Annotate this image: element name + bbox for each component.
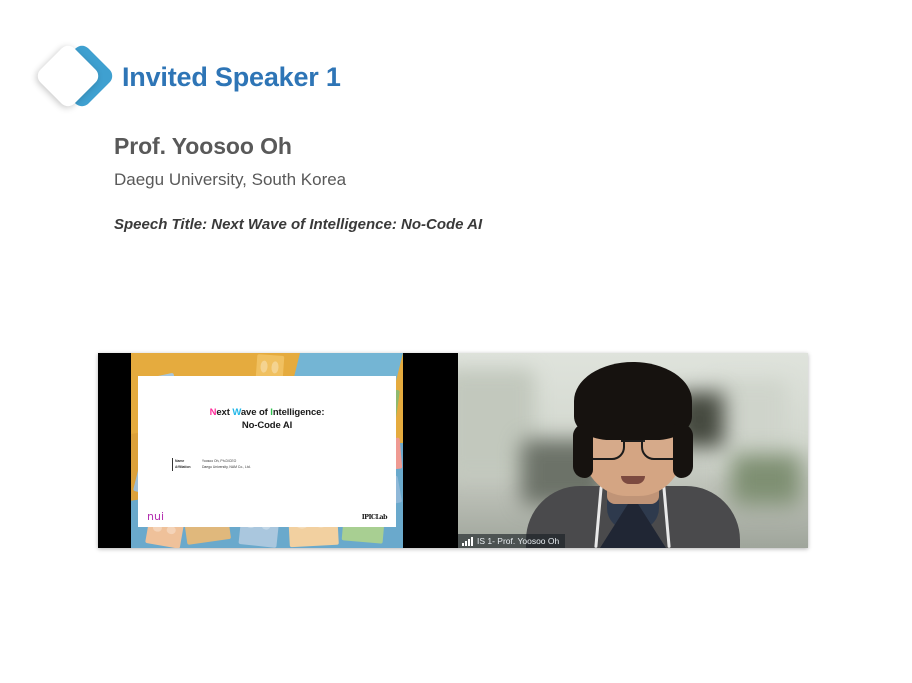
slide-title-part-3: ntelligence: bbox=[273, 407, 325, 418]
speech-title: Speech Title: Next Wave of Intelligence:… bbox=[114, 216, 814, 233]
slide-title-part-2: ave of bbox=[241, 407, 270, 418]
slide-meta: Name Yoosoo Oh, Ph.D/CEO Affiliation Dae… bbox=[172, 458, 251, 471]
speaker-name: Prof. Yoosoo Oh bbox=[114, 133, 814, 160]
speaker-affiliation: Daegu University, South Korea bbox=[114, 170, 814, 190]
slide-content: Next Wave of Intelligence:No-Code AI Nam… bbox=[131, 353, 403, 548]
signal-bars-icon bbox=[462, 537, 473, 546]
slide-title-letter-w: W bbox=[232, 407, 241, 418]
lab-logo: IPICLab bbox=[362, 513, 387, 521]
page-header: Invited Speaker 1 bbox=[34, 44, 634, 110]
slide-meta-value: Yoosoo Oh, Ph.D/CEO bbox=[202, 459, 236, 463]
participant-name-badge: IS 1- Prof. Yoosoo Oh bbox=[458, 534, 565, 548]
slide-meta-label: Affiliation bbox=[172, 464, 201, 470]
diamond-badge-icon bbox=[34, 44, 112, 110]
speaker-webcam-figure bbox=[518, 372, 748, 548]
slide-title-line2: No-Code AI bbox=[242, 420, 292, 431]
slide-share-pane[interactable]: Next Wave of Intelligence:No-Code AI Nam… bbox=[98, 353, 458, 548]
video-feed-pane[interactable]: IS 1- Prof. Yoosoo Oh bbox=[458, 353, 808, 548]
slide-meta-row: Affiliation Daegu University, NAM Co., L… bbox=[172, 464, 251, 470]
page-title: Invited Speaker 1 bbox=[122, 62, 341, 93]
slide-title-part-1: ext bbox=[216, 407, 232, 418]
participant-name-label: IS 1- Prof. Yoosoo Oh bbox=[477, 536, 559, 546]
slide-meta-value: Daegu University, NAM Co., Ltd. bbox=[202, 465, 251, 469]
nui-logo: nui bbox=[147, 511, 164, 522]
slide-white-card: Next Wave of Intelligence:No-Code AI Nam… bbox=[138, 376, 396, 527]
media-row: Next Wave of Intelligence:No-Code AI Nam… bbox=[98, 353, 808, 548]
slide-title: Next Wave of Intelligence:No-Code AI bbox=[138, 407, 396, 433]
speaker-info: Prof. Yoosoo Oh Daegu University, South … bbox=[114, 133, 814, 233]
